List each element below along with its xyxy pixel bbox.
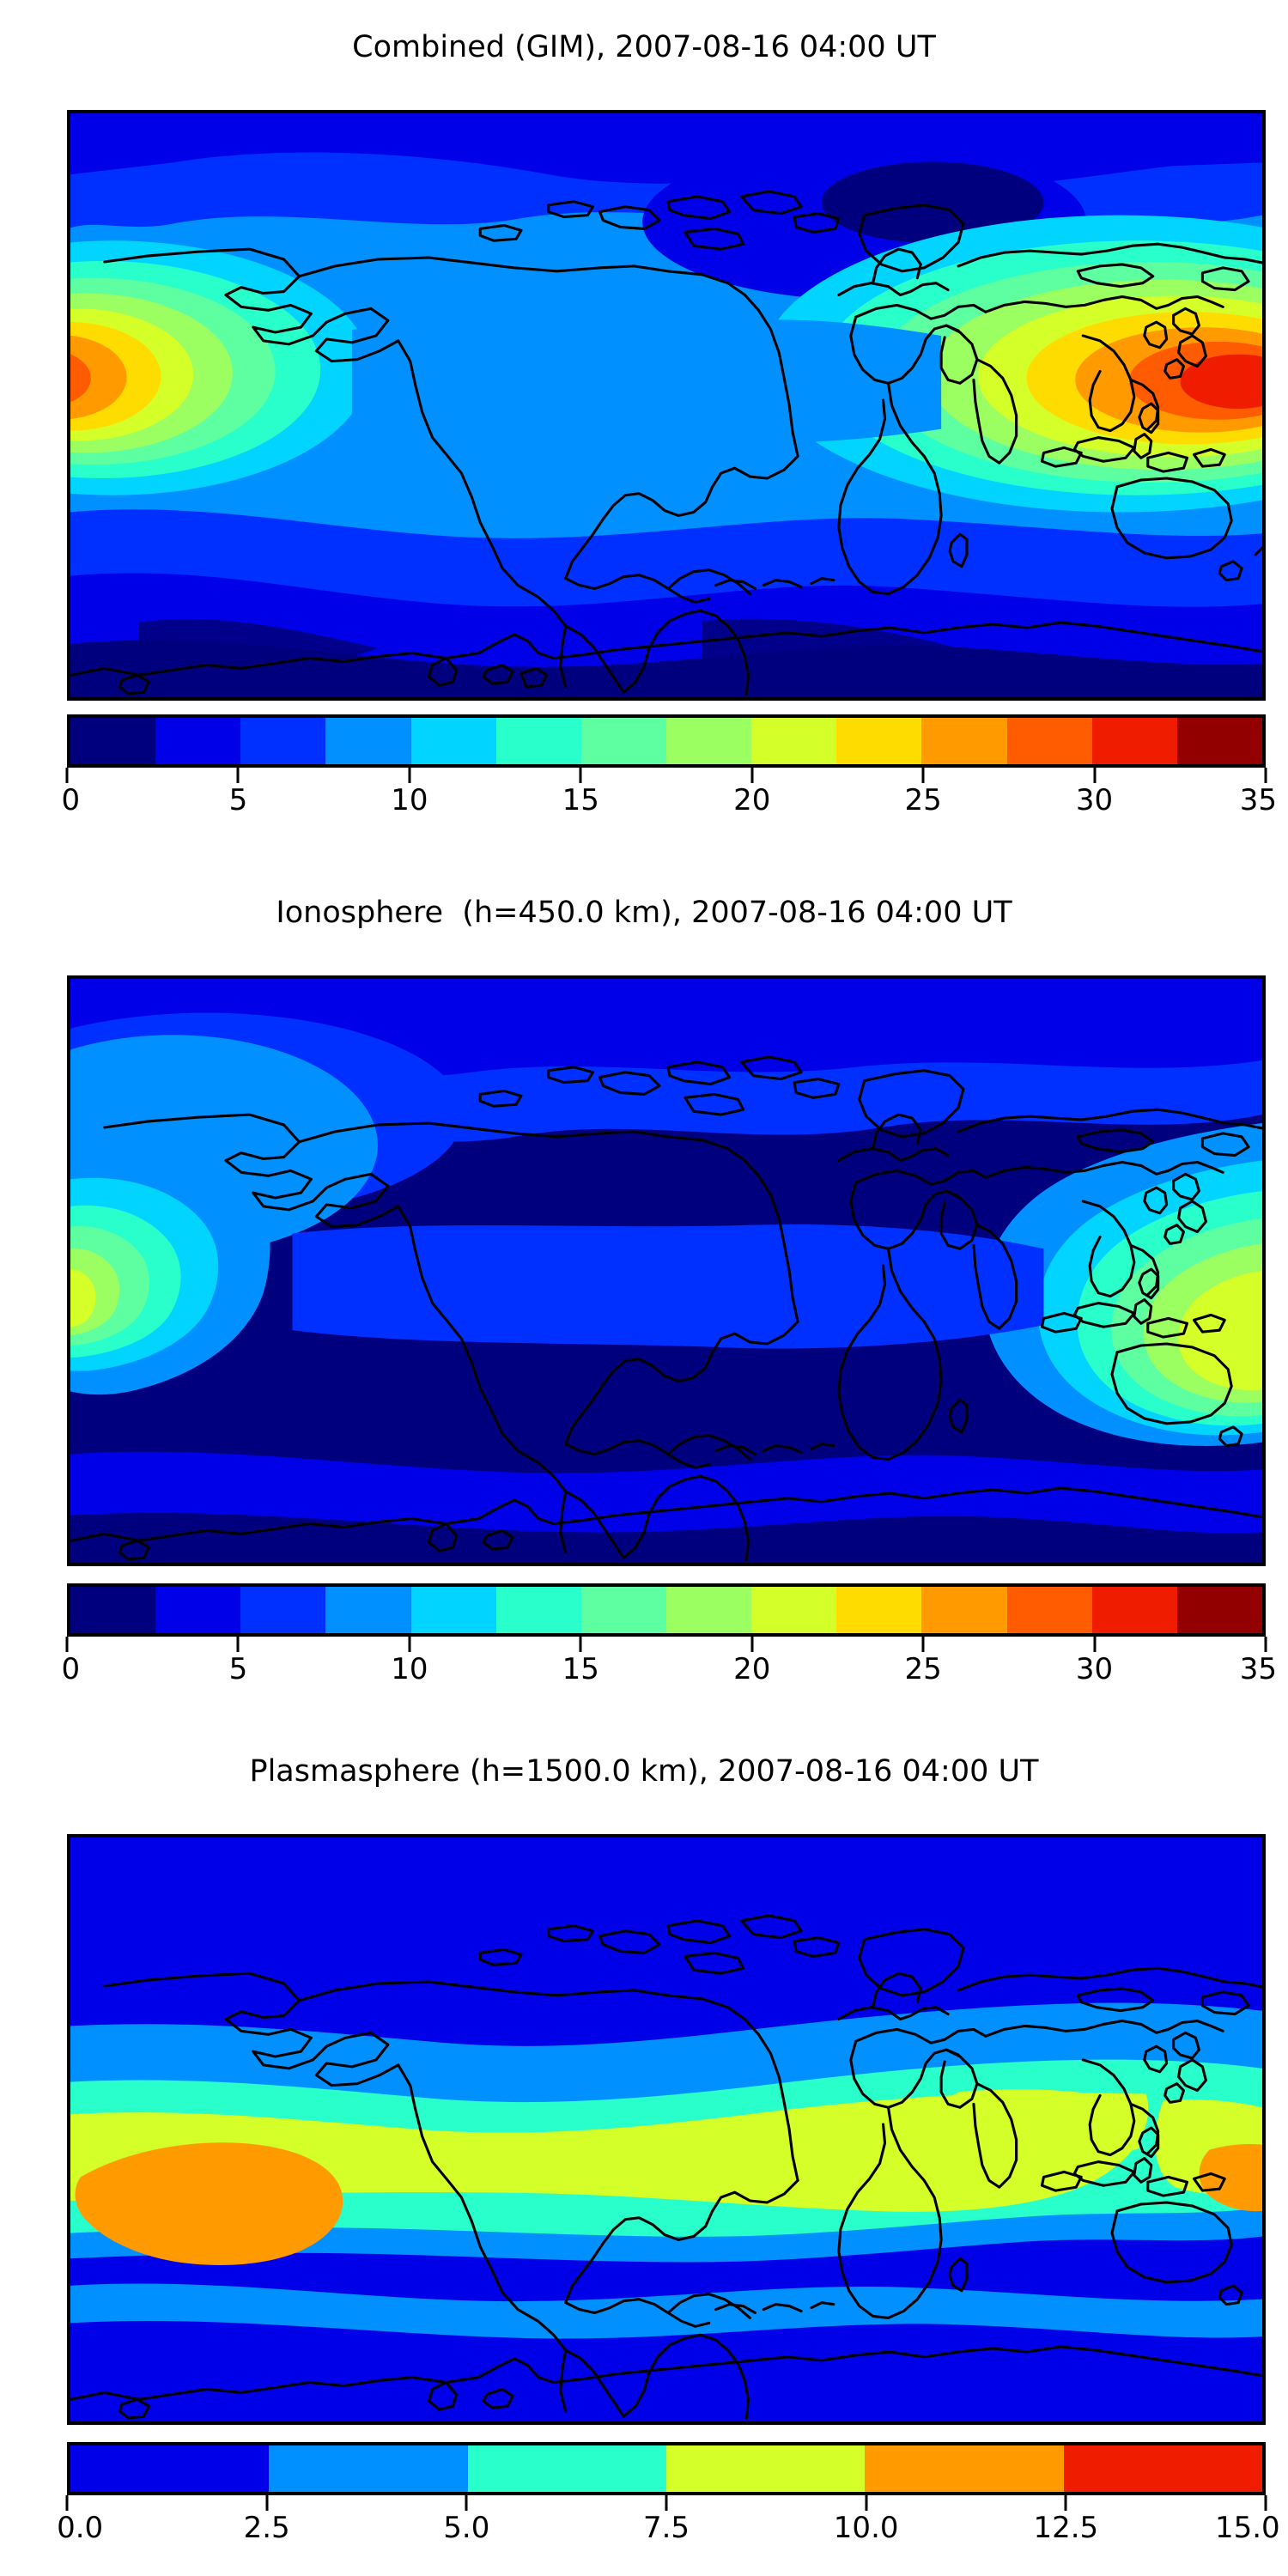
cbar-band bbox=[1092, 718, 1177, 764]
cbar-band bbox=[70, 718, 155, 764]
panel-combined-gim: Combined (GIM), 2007-08-16 04:00 UT bbox=[0, 0, 1288, 859]
cbar-tick-label: 5.0 bbox=[443, 2511, 489, 2545]
colorbar-ticks-1 bbox=[67, 768, 1266, 783]
colorbar-ticks-3 bbox=[67, 2495, 1266, 2511]
cbar-tick-label: 0 bbox=[62, 1652, 81, 1686]
cbar-band bbox=[1092, 1587, 1177, 1633]
cbar-tick-label: 25 bbox=[905, 783, 942, 817]
cbar-band bbox=[155, 718, 240, 764]
cbar-tick-label: 12.5 bbox=[1033, 2511, 1098, 2545]
cbar-tick-label: 30 bbox=[1076, 783, 1113, 817]
cbar-band bbox=[468, 2445, 666, 2492]
panel-ionosphere: Ionosphere (h=450.0 km), 2007-08-16 04:0… bbox=[0, 859, 1288, 1717]
colorbar-ticklabels-1: 0 5 10 15 20 25 30 35 bbox=[67, 783, 1266, 823]
cbar-band bbox=[666, 718, 751, 764]
cbar-tick-label: 7.5 bbox=[643, 2511, 690, 2545]
panel-title-ionosphere: Ionosphere (h=450.0 km), 2007-08-16 04:0… bbox=[0, 898, 1288, 928]
tec-figure: Combined (GIM), 2007-08-16 04:00 UT bbox=[0, 0, 1288, 2576]
cbar-band bbox=[751, 1587, 836, 1633]
cbar-tick-label: 15 bbox=[562, 783, 599, 817]
colorbar-combined-gim: 0 5 10 15 20 25 30 35 bbox=[67, 714, 1266, 823]
cbar-band bbox=[865, 2445, 1063, 2492]
colorbar-plasmasphere: 0.0 2.5 5.0 7.5 10.0 12.5 15.0 bbox=[67, 2442, 1266, 2550]
cbar-tick-label: 2.5 bbox=[244, 2511, 290, 2545]
cbar-band bbox=[325, 1587, 410, 1633]
cbar-band bbox=[411, 1587, 496, 1633]
cbar-band bbox=[155, 1587, 240, 1633]
cbar-band bbox=[496, 1587, 581, 1633]
cbar-band bbox=[836, 718, 921, 764]
cbar-tick-label: 10 bbox=[391, 1652, 428, 1686]
cbar-band bbox=[240, 718, 325, 764]
cbar-band bbox=[921, 718, 1006, 764]
cbar-band bbox=[70, 2445, 269, 2492]
cbar-tick-label: 15 bbox=[562, 1652, 599, 1686]
cbar-tick-label: 35 bbox=[1240, 1652, 1277, 1686]
colorbar-strip-1 bbox=[67, 714, 1266, 768]
cbar-band bbox=[921, 1587, 1006, 1633]
cbar-band bbox=[581, 718, 666, 764]
cbar-tick-label: 20 bbox=[733, 783, 770, 817]
cbar-band bbox=[751, 718, 836, 764]
cbar-band bbox=[666, 1587, 751, 1633]
map-ionosphere bbox=[67, 975, 1266, 1566]
cbar-tick-label: 10.0 bbox=[834, 2511, 899, 2545]
map-plasmasphere bbox=[67, 1834, 1266, 2425]
panel-plasmasphere: Plasmasphere (h=1500.0 km), 2007-08-16 0… bbox=[0, 1717, 1288, 2576]
cbar-tick-label: 35 bbox=[1240, 783, 1277, 817]
cbar-band bbox=[581, 1587, 666, 1633]
cbar-tick-label: 10 bbox=[391, 783, 428, 817]
cbar-band bbox=[666, 2445, 865, 2492]
colorbar-ticklabels-2: 0 5 10 15 20 25 30 35 bbox=[67, 1652, 1266, 1692]
cbar-band bbox=[1007, 1587, 1092, 1633]
cbar-band bbox=[496, 718, 581, 764]
cbar-band bbox=[1177, 718, 1262, 764]
cbar-band bbox=[1177, 1587, 1262, 1633]
panel-title-combined-gim: Combined (GIM), 2007-08-16 04:00 UT bbox=[0, 33, 1288, 63]
cbar-tick-label: 25 bbox=[905, 1652, 942, 1686]
cbar-tick-label: 30 bbox=[1076, 1652, 1113, 1686]
colorbar-strip-2 bbox=[67, 1583, 1266, 1637]
colorbar-strip-3 bbox=[67, 2442, 1266, 2495]
cbar-tick-label: 20 bbox=[733, 1652, 770, 1686]
cbar-band bbox=[411, 718, 496, 764]
cbar-tick-label: 5 bbox=[229, 1652, 248, 1686]
cbar-tick-label: 15.0 bbox=[1215, 2511, 1280, 2545]
cbar-band bbox=[70, 1587, 155, 1633]
cbar-tick-label: 0 bbox=[62, 783, 81, 817]
cbar-band bbox=[836, 1587, 921, 1633]
colorbar-ionosphere: 0 5 10 15 20 25 30 35 bbox=[67, 1583, 1266, 1692]
cbar-tick-label: 0.0 bbox=[57, 2511, 103, 2545]
colorbar-ticklabels-3: 0.0 2.5 5.0 7.5 10.0 12.5 15.0 bbox=[67, 2511, 1266, 2550]
cbar-band bbox=[325, 718, 410, 764]
cbar-tick-label: 5 bbox=[229, 783, 248, 817]
cbar-band bbox=[1064, 2445, 1262, 2492]
map-combined-gim bbox=[67, 110, 1266, 701]
colorbar-ticks-2 bbox=[67, 1637, 1266, 1652]
cbar-band bbox=[269, 2445, 467, 2492]
panel-title-plasmasphere: Plasmasphere (h=1500.0 km), 2007-08-16 0… bbox=[0, 1757, 1288, 1787]
cbar-band bbox=[240, 1587, 325, 1633]
cbar-band bbox=[1007, 718, 1092, 764]
